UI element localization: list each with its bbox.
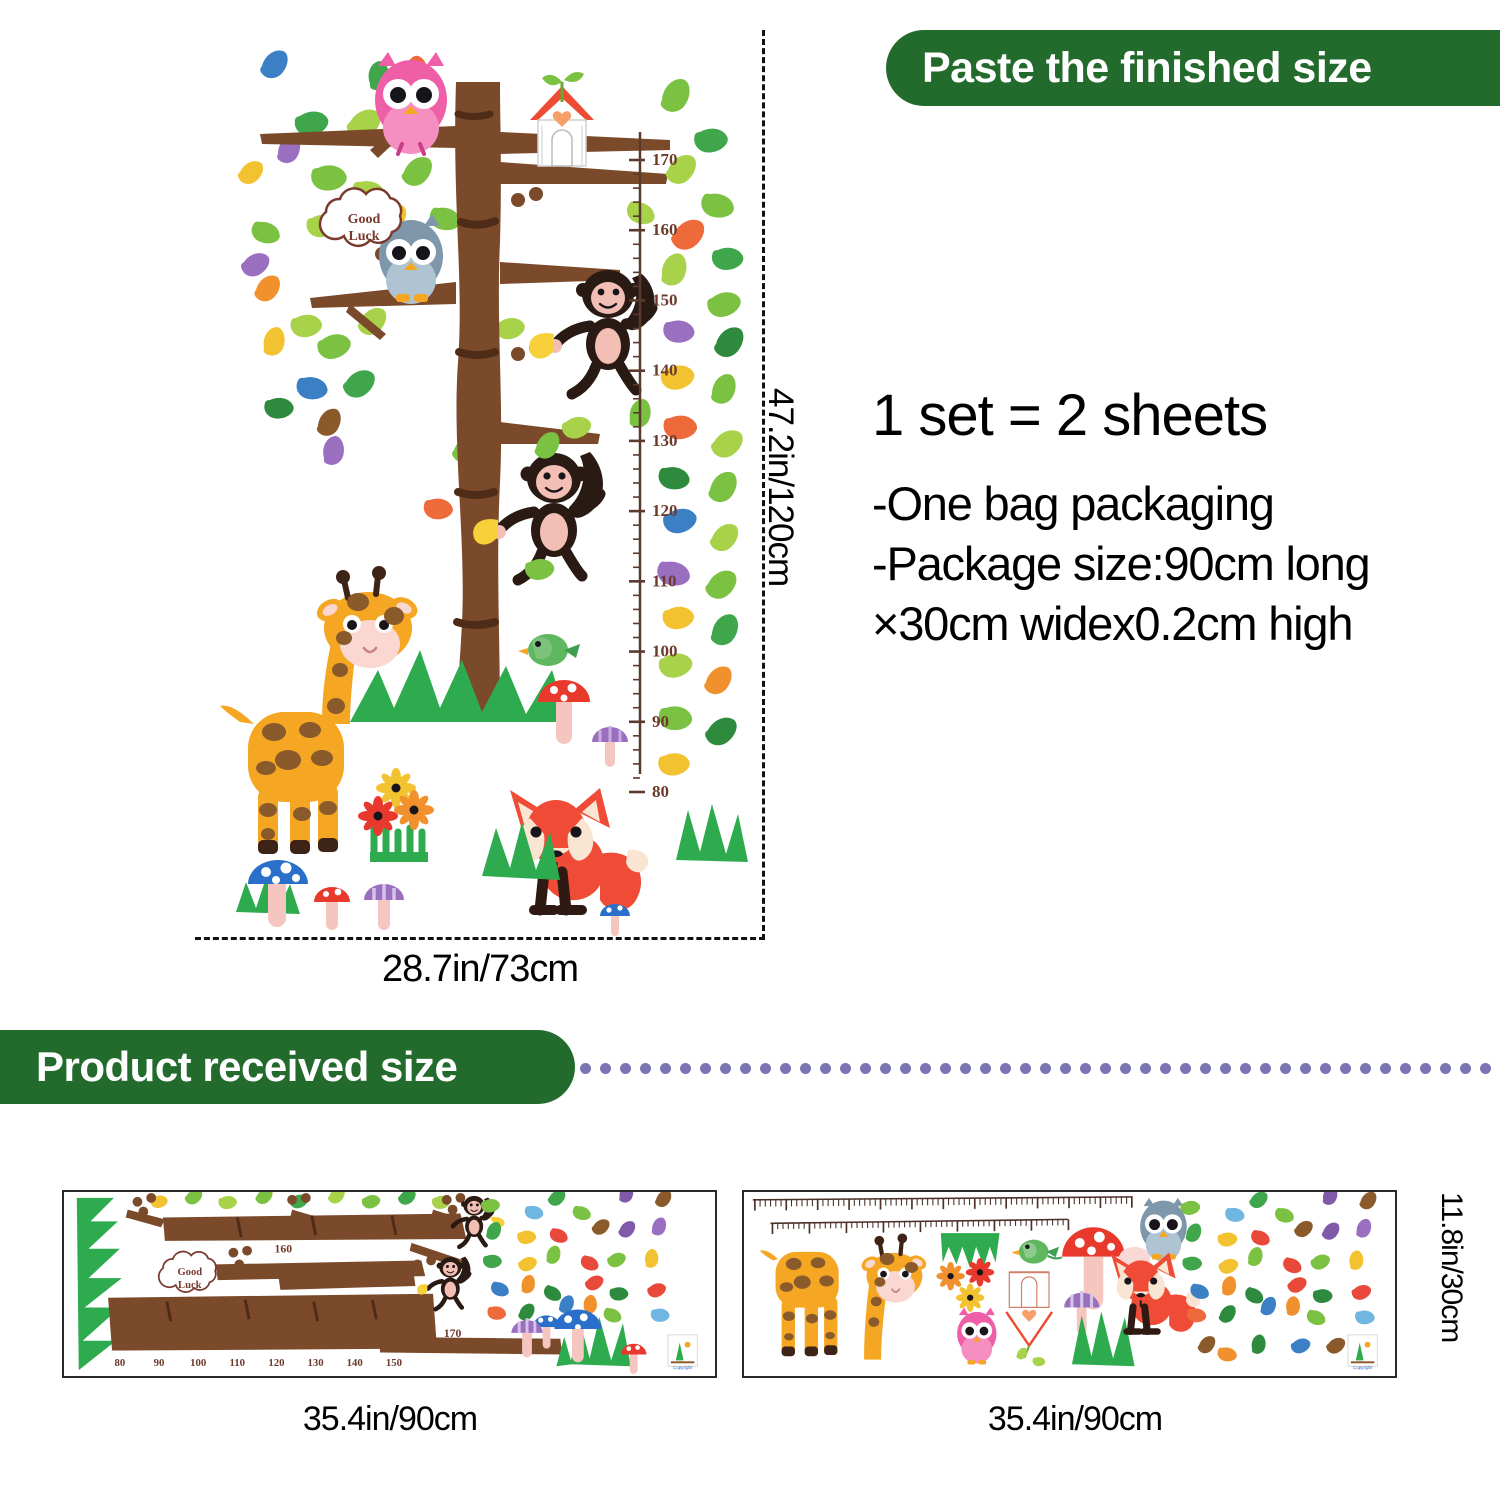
sheet-one-label-170: 170 [444, 1327, 462, 1340]
leaf [485, 1302, 509, 1324]
leaf [1345, 1248, 1368, 1272]
sheet-two-caption: 35.4in/90cm [775, 1400, 1375, 1439]
leaf [1272, 1203, 1296, 1227]
leaf [1310, 1285, 1334, 1307]
sheet-two-brand: Copyright [1353, 1365, 1373, 1370]
leaf [1352, 1216, 1377, 1240]
banner-top-label: Paste the finished size [922, 44, 1372, 93]
leaf [590, 1218, 611, 1236]
sheet-one-number-100: 100 [190, 1357, 206, 1369]
info-bullet-one-bag: -One bag packaging [872, 474, 1492, 534]
leaf [647, 1215, 671, 1238]
leaf [1281, 1294, 1304, 1318]
sheet-two-artwork: Copyright [744, 1192, 1395, 1376]
leaf [1352, 1306, 1376, 1329]
sheet-one-number-90: 90 [154, 1357, 165, 1369]
leaf [601, 1303, 624, 1327]
leaf [480, 1251, 503, 1272]
leaf [522, 1201, 546, 1224]
sheet-one-number-150: 150 [386, 1357, 402, 1369]
leaf [570, 1201, 593, 1224]
leaf [1195, 1334, 1219, 1355]
sheet-one-number-110: 110 [230, 1357, 246, 1369]
leaf [1243, 1245, 1267, 1269]
leaf [1216, 1303, 1240, 1325]
leaf [585, 1275, 604, 1291]
leaf [578, 1251, 601, 1275]
leaf [1222, 1203, 1247, 1227]
leaf [647, 1282, 667, 1298]
svg-text:Luck: Luck [178, 1280, 202, 1291]
sheet-two-preview: Copyright [742, 1190, 1397, 1378]
sheet-one-brand: Copyright [673, 1365, 693, 1370]
leaf [1247, 1192, 1269, 1210]
leaf [546, 1192, 567, 1207]
package-info-block: 1 set = 2 sheets -One bag packaging -Pac… [872, 385, 1492, 654]
leaf [1218, 1258, 1239, 1275]
leaf [1319, 1221, 1343, 1242]
leaf [547, 1224, 570, 1248]
dotted-divider [580, 1061, 1500, 1075]
finished-size-dimension-frame [195, 30, 765, 940]
leaf [1217, 1274, 1241, 1299]
leaf [1247, 1332, 1271, 1357]
ruler-strip-bottom [771, 1219, 1069, 1234]
leaf [1318, 1192, 1342, 1208]
leaf [488, 1277, 511, 1301]
leaf [1310, 1254, 1330, 1270]
leaf [515, 1227, 538, 1247]
sheet-one-number-120: 120 [268, 1357, 284, 1369]
leaf [1215, 1229, 1238, 1250]
info-bullet-package-length: -Package size:90cm long [872, 534, 1492, 594]
finished-height-label: 47.2in/120cm [760, 388, 800, 586]
leaf [1248, 1226, 1272, 1251]
info-bullet-package-width-height: ×30cm widex0.2cm high [872, 594, 1492, 654]
leaf [652, 1192, 675, 1210]
info-headline: 1 set = 2 sheets [872, 385, 1492, 448]
sheet-one-preview: Good Luck 160 170 8090100110120130140150 [62, 1190, 717, 1378]
ruler-strip-top [753, 1197, 1133, 1211]
leaf [1304, 1305, 1328, 1330]
leaf [1214, 1342, 1239, 1366]
banner-bottom-label: Product received size [36, 1043, 457, 1091]
leaf [1293, 1220, 1315, 1239]
leaf [1351, 1284, 1372, 1301]
leaf [1325, 1337, 1346, 1354]
sheet-one-label-160: 160 [275, 1243, 293, 1256]
leaf [1356, 1192, 1380, 1212]
leaf [517, 1273, 540, 1297]
leaf [518, 1256, 538, 1272]
leaf [1180, 1252, 1204, 1274]
sheet-one-caption: 35.4in/90cm [90, 1400, 690, 1439]
svg-text:Good: Good [177, 1267, 202, 1278]
leaf [648, 1304, 671, 1326]
leaf [1242, 1283, 1265, 1307]
sheet-one-artwork: Good Luck 160 170 8090100110120130140150 [64, 1192, 715, 1376]
leaf [641, 1247, 663, 1270]
sheet-one-number-140: 140 [347, 1357, 363, 1369]
sheet-one-number-80: 80 [114, 1357, 125, 1369]
finished-width-label: 28.7in/73cm [280, 948, 680, 991]
leaf [616, 1219, 639, 1239]
leaf [541, 1282, 563, 1305]
banner-product-received-size: Product received size [0, 1030, 575, 1104]
sheet-height-label: 11.8in/30cm [1434, 1192, 1468, 1342]
leaf [542, 1243, 565, 1266]
sheet-one-number-130: 130 [308, 1357, 324, 1369]
leaf [1290, 1337, 1311, 1354]
leaf [607, 1252, 626, 1267]
leaf [615, 1192, 638, 1206]
leaf [1280, 1253, 1304, 1278]
leaf [607, 1283, 630, 1304]
frame-bottom-dashed-line [195, 937, 765, 940]
banner-paste-finished-size: Paste the finished size [886, 30, 1500, 106]
leaf [1287, 1277, 1307, 1293]
